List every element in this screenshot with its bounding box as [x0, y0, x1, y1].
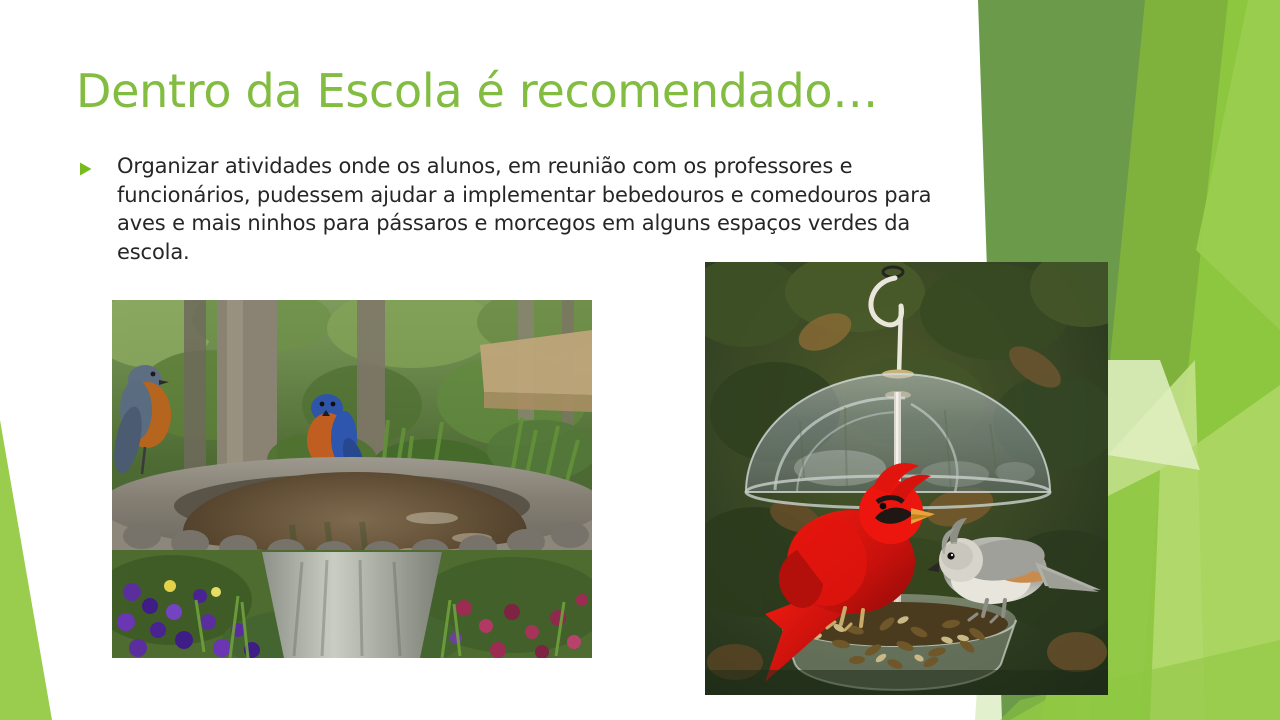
deco-light-facet-b: [1140, 385, 1280, 720]
deco-light-facet-upper: [1196, 0, 1280, 330]
triangle-right-bullet-icon: [78, 161, 100, 177]
deco-light-facet-d: [1103, 360, 1200, 470]
slide-title: Dentro da Escola é recomendado…: [76, 66, 936, 117]
bullet-item-text: Organizar atividades onde os alunos, em …: [117, 152, 968, 266]
bullet-list: Organizar atividades onde os alunos, em …: [78, 152, 968, 266]
deco-bright-band: [1150, 0, 1280, 720]
deco-bottom-left-wedge: [0, 420, 52, 720]
slide-canvas: Dentro da Escola é recomendado… Organiza…: [0, 0, 1280, 720]
birdbath-photo: [112, 300, 592, 658]
bird-feeder-photo: [705, 262, 1108, 695]
